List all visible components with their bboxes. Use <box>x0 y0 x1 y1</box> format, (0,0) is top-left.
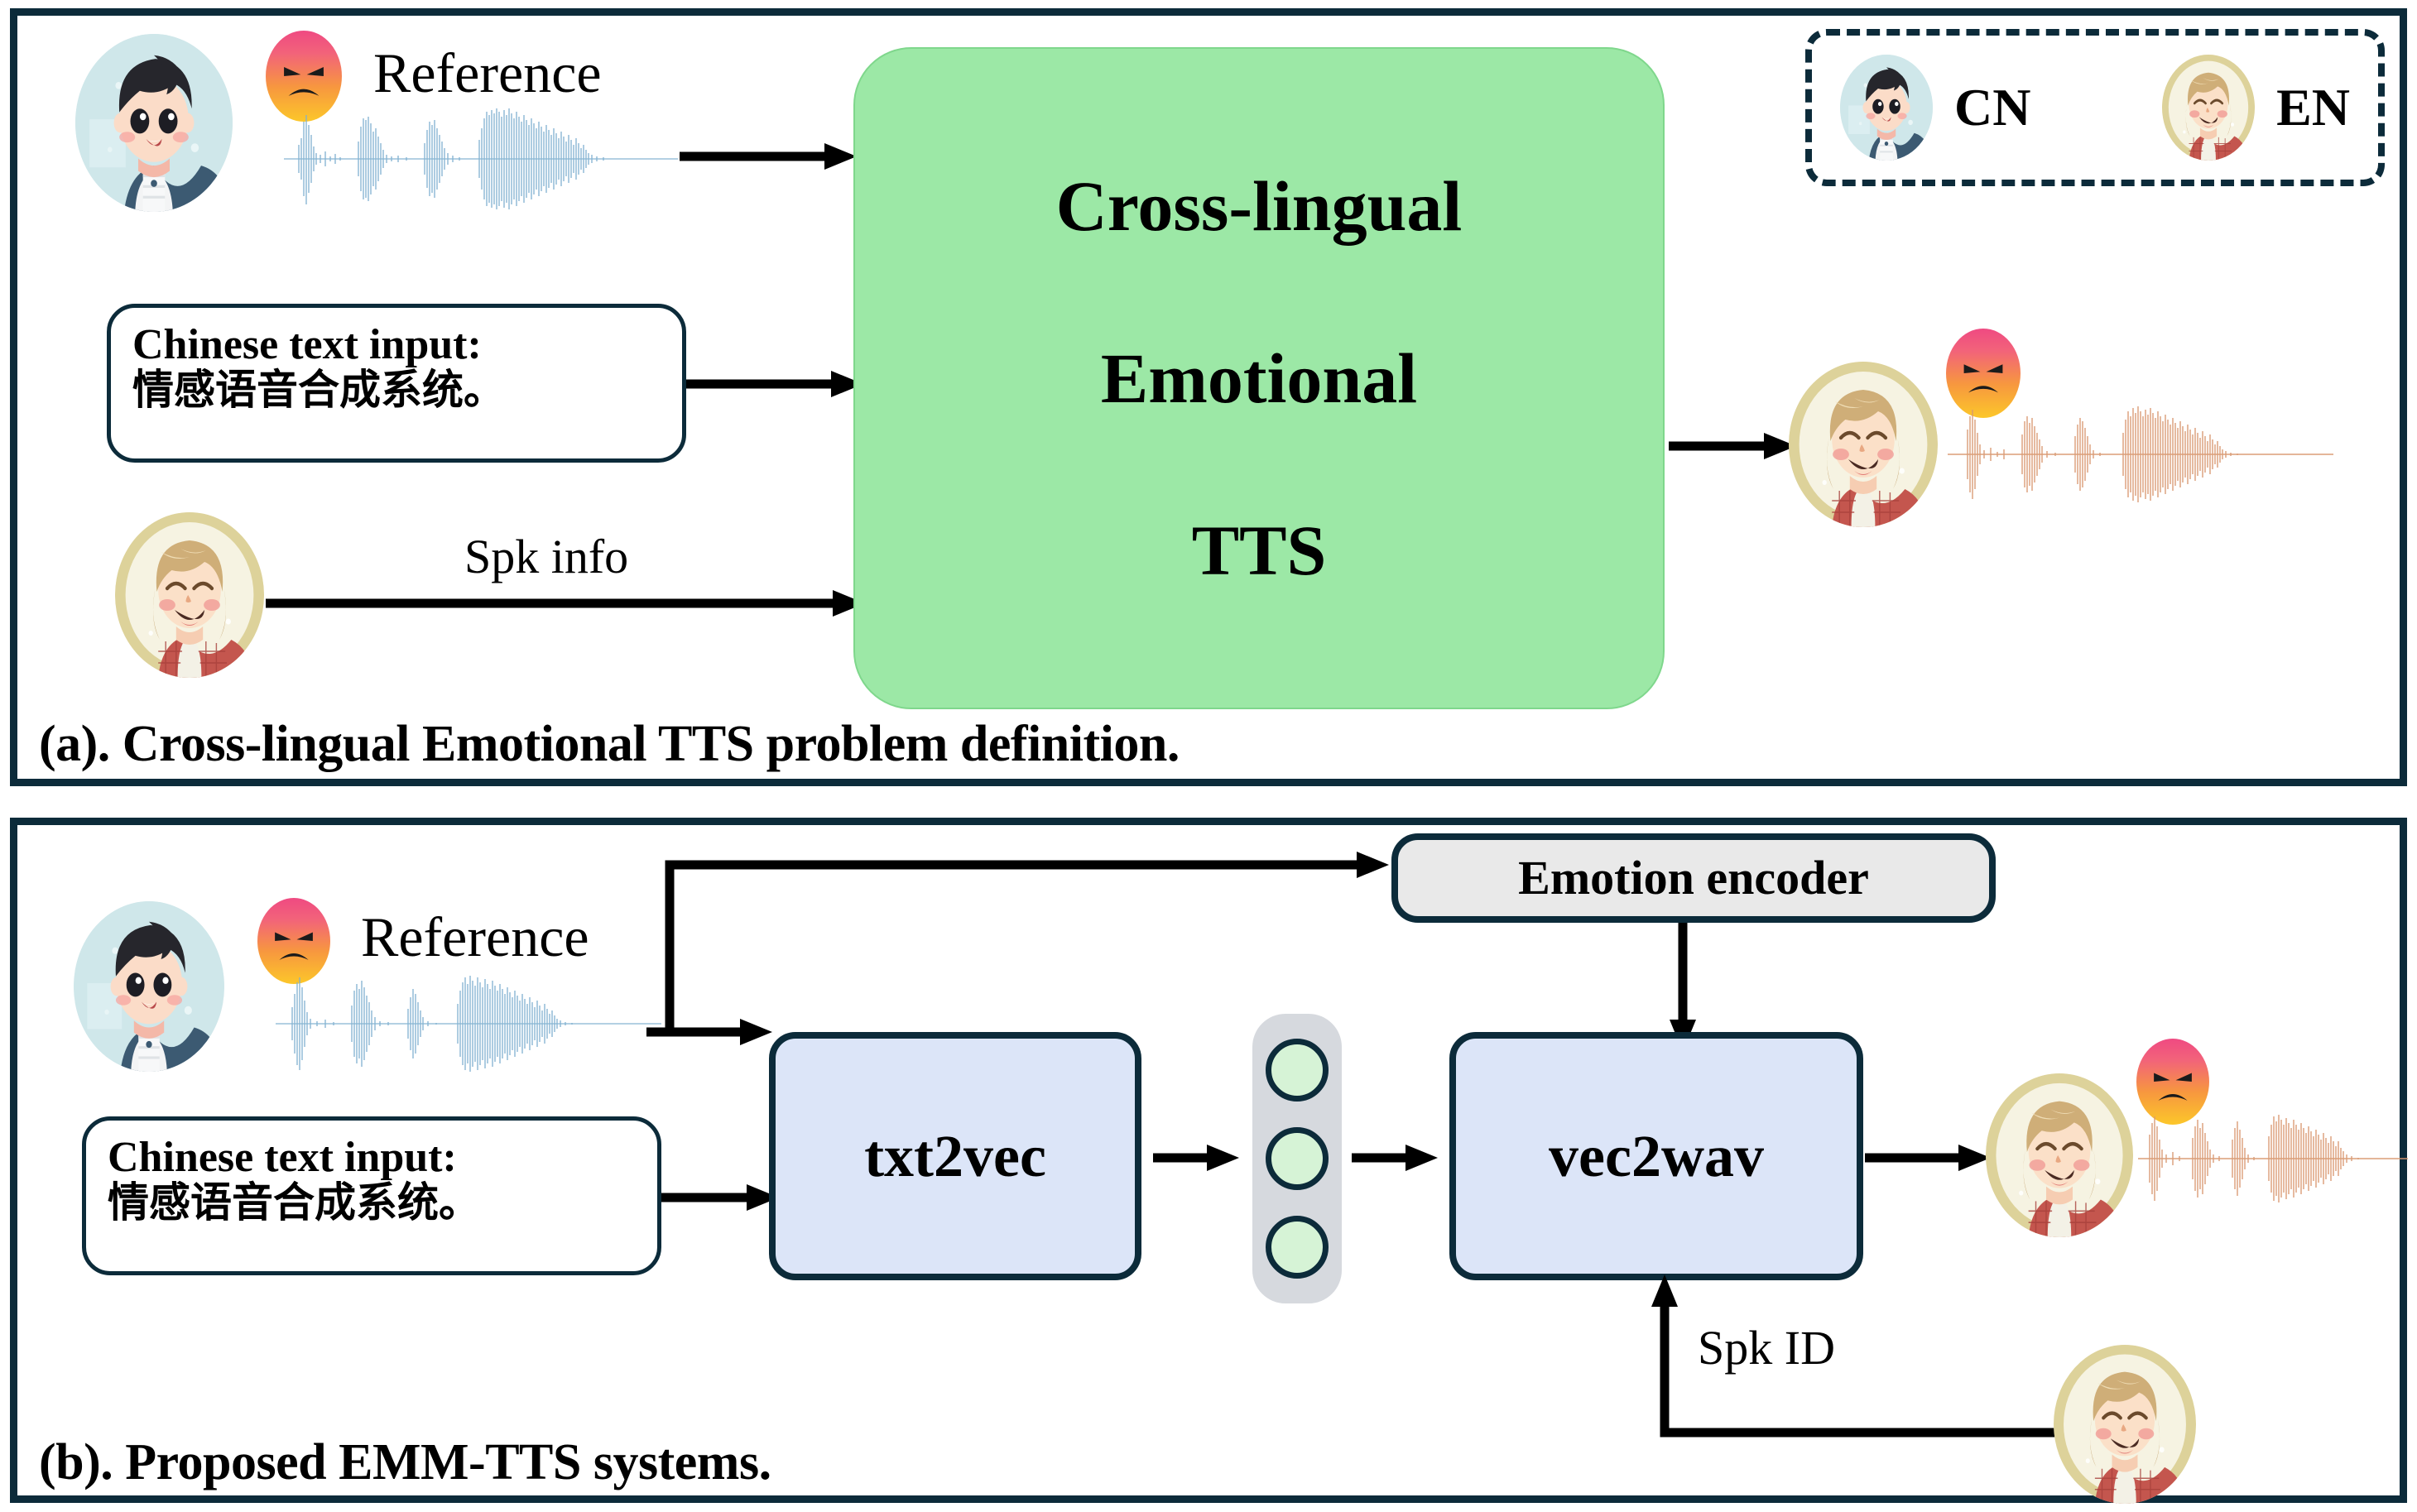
arrow-right-icon <box>266 587 870 620</box>
figure-root: Reference <box>0 0 2417 1512</box>
en-avatar-icon <box>1986 1073 2133 1237</box>
orange-waveform-icon <box>1946 405 2335 504</box>
vec2wav-box: vec2wav <box>1449 1032 1863 1280</box>
txt2vec-box: txt2vec <box>769 1032 1141 1280</box>
cn-avatar-icon <box>74 901 224 1072</box>
cn-avatar-icon <box>1840 55 1933 161</box>
txt2vec-label: txt2vec <box>864 1126 1046 1186</box>
legend-item-en: EN <box>2162 55 2350 161</box>
angry-face-icon <box>2136 1039 2209 1125</box>
chinese-text-input-label-b: Chinese text input: <box>108 1135 636 1180</box>
panel-b: Reference <box>10 818 2407 1503</box>
cn-avatar-icon <box>75 34 233 212</box>
angry-face-icon <box>257 898 330 984</box>
arrow-right-icon <box>680 140 862 173</box>
spk-id-label: Spk ID <box>1698 1320 1835 1375</box>
blue-waveform-icon <box>282 107 680 214</box>
arrow-right-icon <box>686 367 868 401</box>
latent-vector-pill <box>1252 1014 1342 1303</box>
arrow-right-icon <box>661 1181 786 1214</box>
panel-b-caption: (b). Proposed EMM-TTS systems. <box>39 1433 771 1492</box>
emotion-encoder-box: Emotion encoder <box>1391 833 1996 923</box>
panel-a: Reference <box>10 8 2407 786</box>
legend-label-cn: CN <box>1954 77 2030 138</box>
legend-item-cn: CN <box>1840 55 2030 161</box>
chinese-text-input-box-a: Chinese text input: 情感语音合成系统。 <box>107 304 686 463</box>
cross-lingual-emotional-tts-box: Cross-lingual Emotional TTS <box>853 47 1665 709</box>
chinese-text-input-label-a: Chinese text input: <box>132 323 661 367</box>
spk-info-label: Spk info <box>464 529 628 584</box>
latent-vector-dot <box>1266 1127 1329 1190</box>
reference-to-emotion-encoder-connector <box>661 835 1406 1042</box>
arrow-right-icon <box>1865 1141 1997 1174</box>
chinese-text-input-value-a: 情感语音合成系统。 <box>132 367 661 413</box>
en-avatar-icon <box>115 512 264 678</box>
arrow-right-icon <box>1352 1141 1443 1174</box>
reference-label-a: Reference <box>373 41 602 106</box>
en-avatar-icon <box>2054 1345 2196 1504</box>
chinese-text-input-value-b: 情感语音合成系统。 <box>108 1180 636 1226</box>
arrow-right-icon <box>1669 430 1801 463</box>
legend: CN EN <box>1805 29 2385 186</box>
panel-a-caption: (a). Cross-lingual Emotional TTS problem… <box>39 715 1180 774</box>
en-avatar-icon <box>1789 362 1938 527</box>
vec2wav-label: vec2wav <box>1549 1126 1764 1186</box>
en-avatar-icon <box>2162 55 2255 161</box>
blue-waveform-icon <box>274 974 663 1073</box>
legend-label-en: EN <box>2276 77 2350 138</box>
reference-label-b: Reference <box>361 905 589 970</box>
green-box-line-1: Cross-lingual <box>1056 170 1463 242</box>
orange-waveform-icon <box>2136 1113 2410 1204</box>
emotion-encoder-label: Emotion encoder <box>1518 854 1869 902</box>
arrow-right-icon <box>1153 1141 1244 1174</box>
latent-vector-dot <box>1266 1216 1329 1279</box>
green-box-line-3: TTS <box>1192 515 1327 586</box>
chinese-text-input-box-b: Chinese text input: 情感语音合成系统。 <box>82 1116 661 1275</box>
latent-vector-dot <box>1266 1039 1329 1102</box>
arrow-right-icon <box>646 1015 779 1049</box>
green-box-line-2: Emotional <box>1101 343 1417 414</box>
